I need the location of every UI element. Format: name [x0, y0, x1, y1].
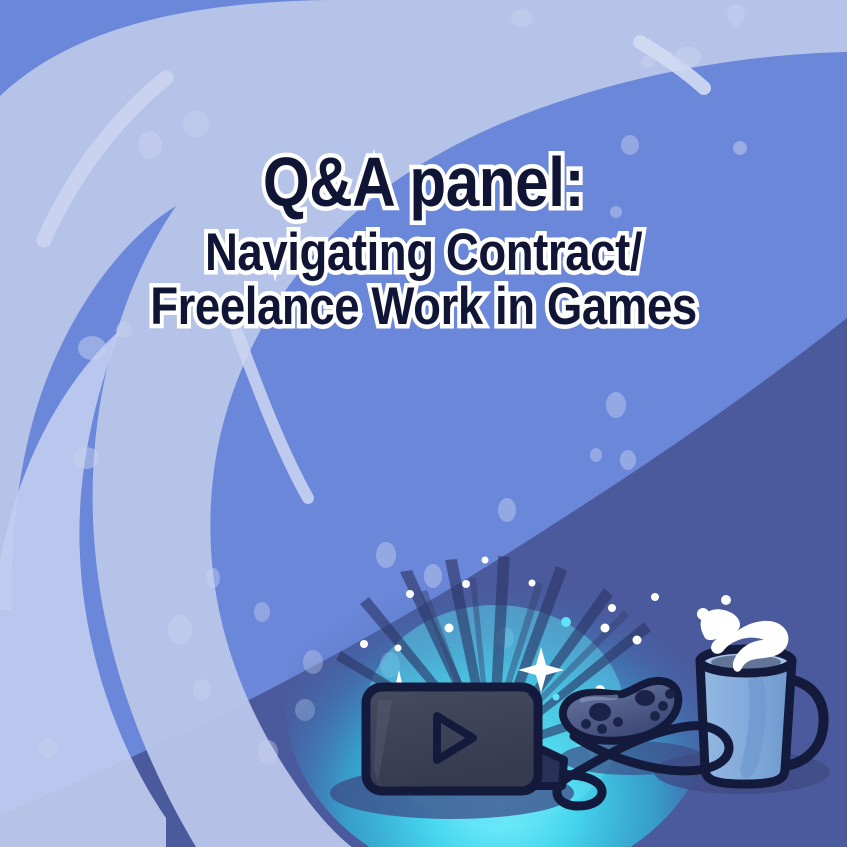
steam-dot-1: [697, 608, 709, 620]
controller-dpad-1: [581, 719, 591, 729]
controller-button-b: [650, 711, 660, 721]
controller-dpad-2: [597, 724, 607, 734]
coffee-mug: [697, 595, 824, 784]
controller-thumbstick-right: [635, 690, 655, 706]
tablet-screen: [366, 687, 564, 791]
controller-thumbstick-left: [589, 703, 611, 721]
screen-body: [366, 687, 538, 791]
illustration-layer: [0, 0, 847, 847]
controller-button-x: [665, 689, 675, 699]
poster-canvas: Q&A panel: Navigating Contract/ Freelanc…: [0, 0, 847, 847]
controller-button-a: [658, 701, 668, 711]
steam-dot-2: [721, 595, 731, 605]
controller-highlight: [582, 697, 616, 700]
controller-dpad-3: [613, 717, 623, 727]
